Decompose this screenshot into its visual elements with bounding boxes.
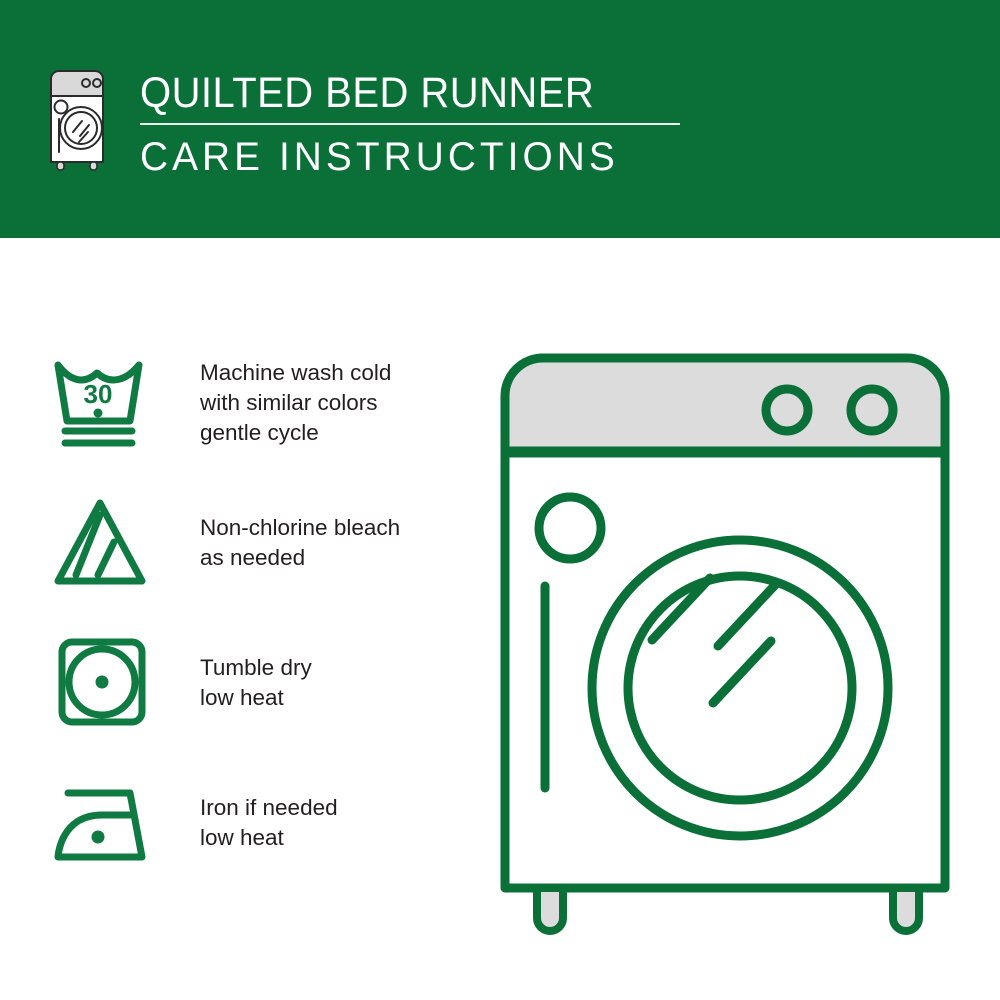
care-symbol-list: 30 Machine wash cold with similar colors…: [50, 333, 450, 893]
wash-temperature-value: 30: [84, 379, 113, 409]
care-row-label: Tumble dry low heat: [200, 653, 312, 713]
washing-machine-illustration: [495, 348, 965, 938]
care-row-label: Non-chlorine bleach as needed: [200, 513, 400, 573]
header-banner: QUILTED BED RUNNER CARE INSTRUCTIONS: [0, 0, 1000, 238]
care-row: 30 Machine wash cold with similar colors…: [50, 333, 450, 473]
iron-low-heat-icon: [50, 775, 158, 871]
care-row: Tumble dry low heat: [50, 613, 450, 753]
care-instructions-infographic: QUILTED BED RUNNER CARE INSTRUCTIONS 30: [0, 0, 1000, 1000]
care-row: Iron if needed low heat: [50, 753, 450, 893]
page-subtitle: CARE INSTRUCTIONS: [140, 134, 741, 180]
title-divider: [140, 123, 680, 125]
header-text-block: QUILTED BED RUNNER CARE INSTRUCTIONS: [140, 68, 760, 180]
machine-wash-30-gentle-icon: 30: [50, 355, 158, 451]
content-area: 30 Machine wash cold with similar colors…: [0, 238, 1000, 1000]
care-row: Non-chlorine bleach as needed: [50, 473, 450, 613]
non-chlorine-bleach-icon: [50, 495, 158, 591]
page-title: QUILTED BED RUNNER: [140, 68, 717, 118]
care-row-label: Machine wash cold with similar colors ge…: [200, 358, 391, 448]
care-row-label: Iron if needed low heat: [200, 793, 338, 853]
tumble-dry-low-heat-icon: [50, 635, 158, 731]
washing-machine-icon: [46, 66, 108, 172]
